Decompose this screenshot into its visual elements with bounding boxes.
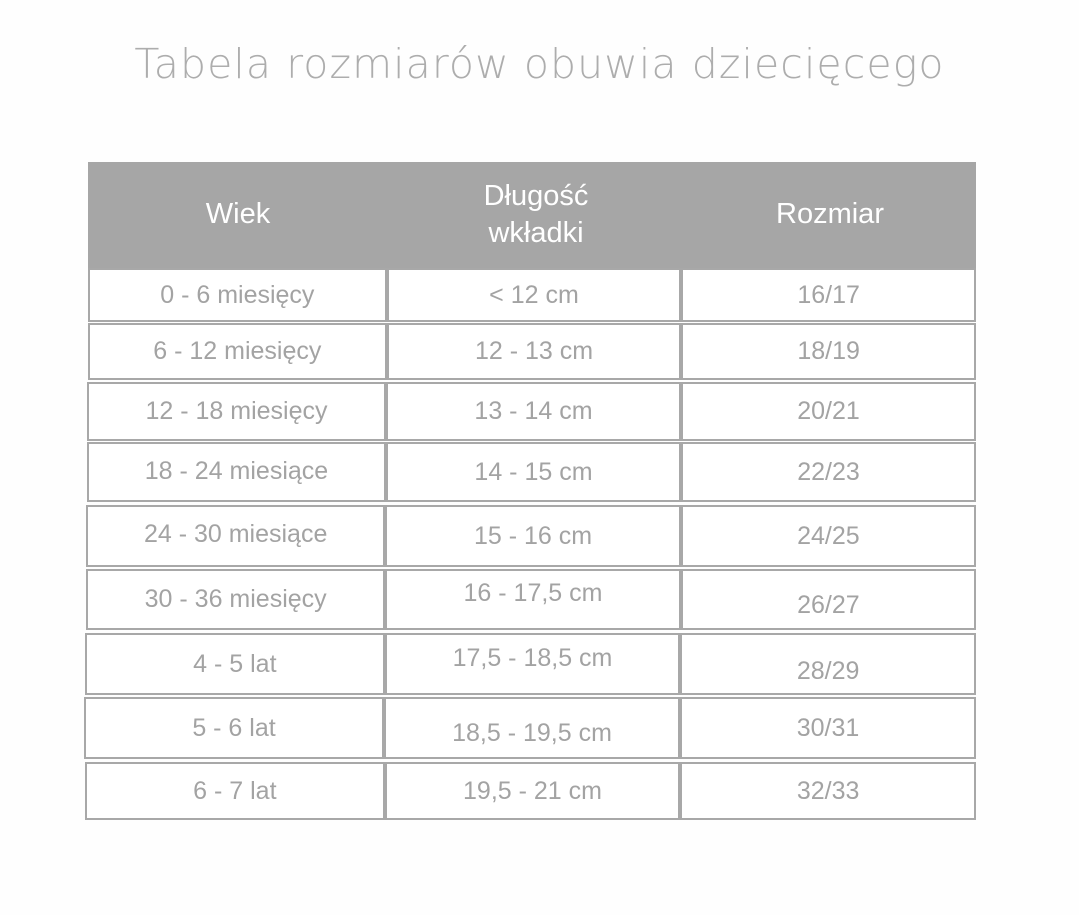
- column-header-insole-length: Długość wkładki: [388, 178, 684, 252]
- cell-insole: 19,5 - 21 cm: [385, 762, 681, 820]
- column-header-age: Wiek: [88, 196, 388, 233]
- cell-age: 0 - 6 miesięcy: [88, 268, 387, 322]
- size-chart-table: Wiek Długość wkładki Rozmiar 0 - 6 miesi…: [84, 162, 976, 824]
- cell-size: 32/33: [680, 762, 976, 820]
- cell-age: 24 - 30 miesiące: [86, 505, 385, 567]
- cell-age: 6 - 12 miesięcy: [88, 323, 387, 380]
- cell-age-text: 4 - 5 lat: [193, 650, 276, 679]
- cell-age-text: 18 - 24 miesiące: [145, 457, 328, 486]
- cell-insole: < 12 cm: [387, 268, 682, 322]
- cell-size: 18/19: [681, 323, 976, 380]
- cell-age: 4 - 5 lat: [85, 633, 385, 695]
- cell-size: 28/29: [680, 633, 976, 695]
- cell-insole-text: 14 - 15 cm: [474, 458, 592, 487]
- cell-age: 18 - 24 miesiące: [87, 442, 386, 502]
- column-header-insole-length-line1: Długość: [388, 178, 684, 215]
- cell-size-text: 32/33: [797, 777, 860, 806]
- table-row: 0 - 6 miesięcy < 12 cm 16/17: [88, 268, 976, 322]
- cell-insole: 15 - 16 cm: [385, 505, 680, 567]
- cell-size: 30/31: [680, 697, 976, 759]
- cell-size-text: 28/29: [797, 657, 860, 686]
- table-row: 18 - 24 miesiące 14 - 15 cm 22/23: [87, 442, 976, 502]
- cell-insole-text: 17,5 - 18,5 cm: [453, 644, 613, 673]
- cell-insole-text: 13 - 14 cm: [474, 397, 592, 426]
- table-row: 24 - 30 miesiące 15 - 16 cm 24/25: [86, 505, 976, 567]
- cell-age-text: 30 - 36 miesięcy: [145, 585, 327, 614]
- cell-insole-text: 15 - 16 cm: [474, 522, 592, 551]
- cell-age-text: 24 - 30 miesiące: [144, 520, 327, 549]
- cell-size: 16/17: [681, 268, 976, 322]
- cell-insole: 17,5 - 18,5 cm: [385, 633, 681, 695]
- cell-age-text: 12 - 18 miesięcy: [145, 397, 327, 426]
- table-row: 4 - 5 lat 17,5 - 18,5 cm 28/29: [85, 633, 976, 695]
- cell-insole-text: 18,5 - 19,5 cm: [452, 719, 612, 748]
- cell-age-text: 0 - 6 miesięcy: [160, 281, 314, 310]
- table-row: 5 - 6 lat 18,5 - 19,5 cm 30/31: [84, 697, 976, 759]
- column-header-insole-length-line2: wkładki: [388, 215, 684, 252]
- table-row: 30 - 36 miesięcy 16 - 17,5 cm 26/27: [86, 569, 976, 630]
- cell-age: 30 - 36 miesięcy: [86, 569, 385, 630]
- cell-size: 26/27: [681, 569, 976, 630]
- cell-size-text: 24/25: [797, 522, 860, 551]
- cell-insole: 13 - 14 cm: [386, 382, 681, 441]
- cell-age: 6 - 7 lat: [85, 762, 385, 820]
- cell-age-text: 5 - 6 lat: [192, 714, 275, 743]
- cell-insole-text: 12 - 13 cm: [475, 337, 593, 366]
- cell-insole-text: < 12 cm: [489, 281, 579, 310]
- cell-age-text: 6 - 7 lat: [193, 777, 276, 806]
- cell-size-text: 30/31: [797, 714, 860, 743]
- page-title: Tabela rozmiarów obuwia dziecięcego: [0, 40, 1079, 88]
- column-header-size: Rozmiar: [684, 196, 976, 233]
- cell-age: 12 - 18 miesięcy: [87, 382, 386, 441]
- table-row: 12 - 18 miesięcy 13 - 14 cm 20/21: [87, 382, 976, 441]
- table-body: 0 - 6 miesięcy < 12 cm 16/17 6 - 12 mies…: [84, 268, 976, 820]
- cell-size-text: 26/27: [797, 591, 860, 620]
- table-header-row: Wiek Długość wkładki Rozmiar: [88, 162, 976, 268]
- cell-size: 20/21: [681, 382, 976, 441]
- cell-age-text: 6 - 12 miesięcy: [153, 337, 321, 366]
- cell-insole: 12 - 13 cm: [387, 323, 682, 380]
- cell-size-text: 18/19: [797, 337, 860, 366]
- cell-insole: 14 - 15 cm: [386, 442, 681, 502]
- table-row: 6 - 7 lat 19,5 - 21 cm 32/33: [85, 762, 976, 820]
- cell-insole: 16 - 17,5 cm: [385, 569, 680, 630]
- cell-size-text: 16/17: [797, 281, 860, 310]
- cell-insole-text: 16 - 17,5 cm: [464, 579, 603, 608]
- cell-size: 24/25: [681, 505, 976, 567]
- cell-insole: 18,5 - 19,5 cm: [384, 697, 680, 759]
- table-row: 6 - 12 miesięcy 12 - 13 cm 18/19: [88, 323, 976, 380]
- cell-size-text: 22/23: [797, 458, 860, 487]
- cell-age: 5 - 6 lat: [84, 697, 384, 759]
- cell-size: 22/23: [681, 442, 976, 502]
- cell-insole-text: 19,5 - 21 cm: [463, 777, 602, 806]
- cell-size-text: 20/21: [797, 397, 860, 426]
